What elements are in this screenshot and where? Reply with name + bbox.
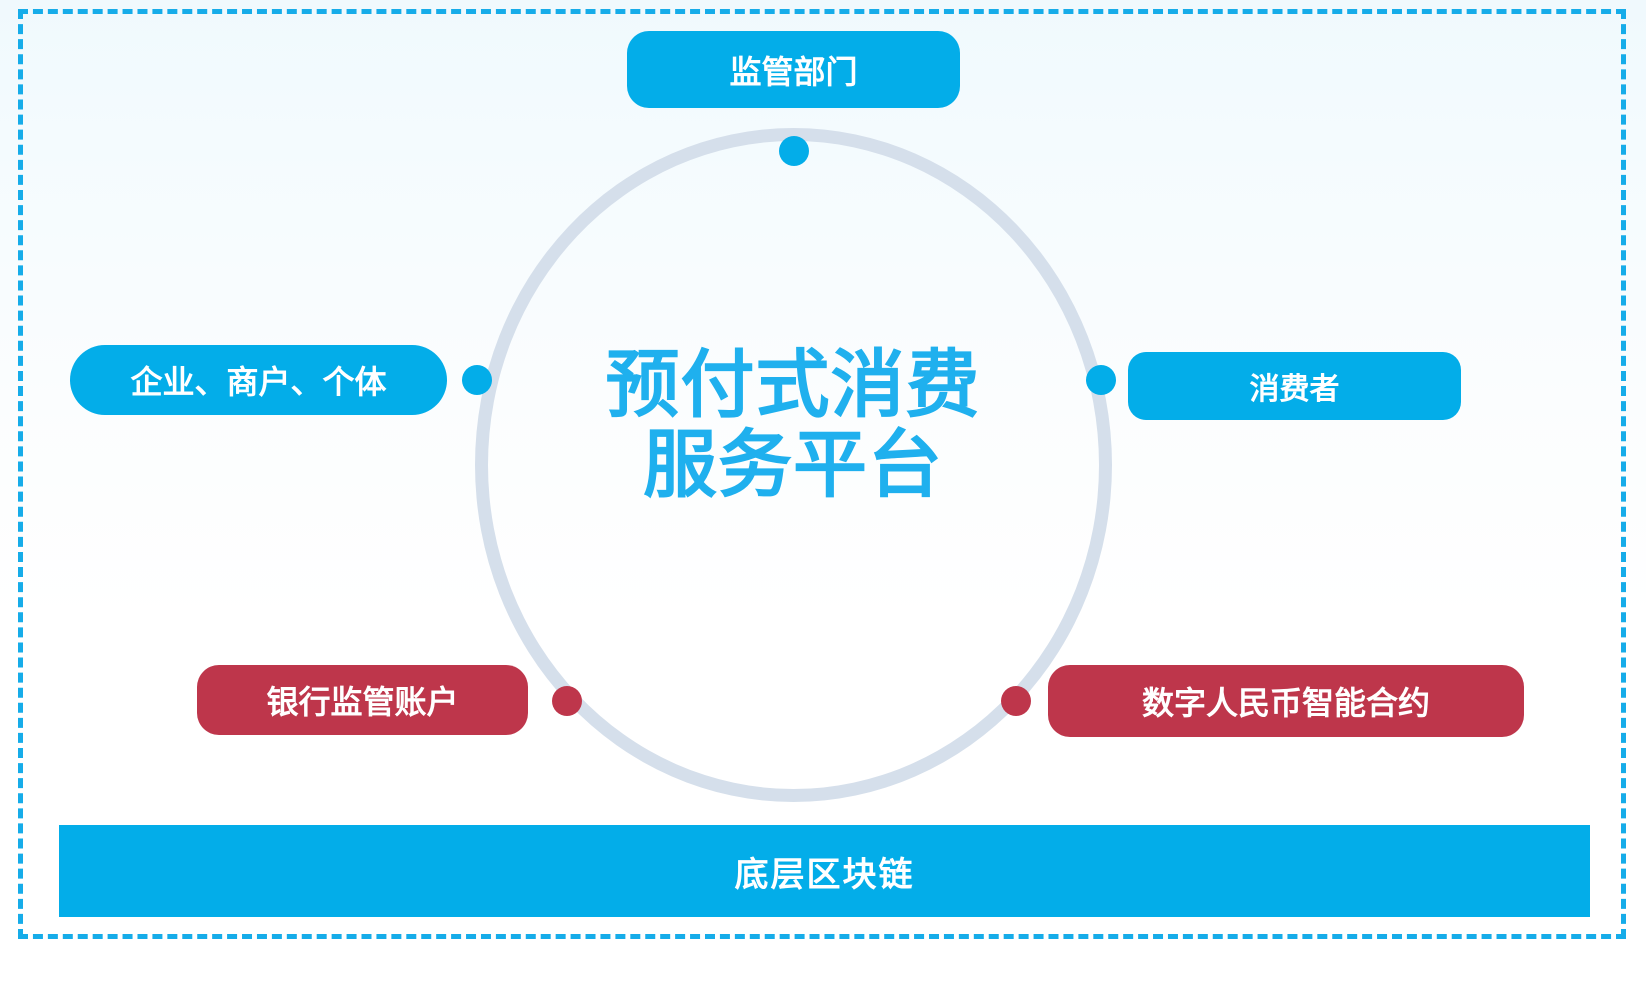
node-dot-bank-account-icon bbox=[552, 686, 582, 716]
node-label-smart-contract[interactable]: 数字人民币智能合约 bbox=[1048, 665, 1524, 737]
node-dot-consumers-icon bbox=[1086, 365, 1116, 395]
node-label-consumers[interactable]: 消费者 bbox=[1128, 352, 1461, 420]
center-platform-title: 预付式消费 服务平台 bbox=[533, 345, 1053, 505]
node-dot-smart-contract-icon bbox=[1001, 686, 1031, 716]
foundation-bar[interactable]: 底层区块链 bbox=[59, 825, 1590, 917]
diagram-canvas: 预付式消费 服务平台 监管部门 企业、商户、个体 消费者 银行监管账户 数字人民… bbox=[0, 0, 1646, 1000]
center-title-line-1: 预付式消费 bbox=[533, 345, 1053, 425]
node-dot-merchants-icon bbox=[462, 365, 492, 395]
node-label-merchants[interactable]: 企业、商户、个体 bbox=[70, 345, 447, 415]
foundation-bar-label: 底层区块链 bbox=[735, 847, 915, 896]
center-title-line-2: 服务平台 bbox=[533, 425, 1053, 505]
node-label-bank-account[interactable]: 银行监管账户 bbox=[197, 665, 528, 735]
node-dot-regulator-icon bbox=[779, 136, 809, 166]
node-label-regulator[interactable]: 监管部门 bbox=[627, 31, 960, 108]
